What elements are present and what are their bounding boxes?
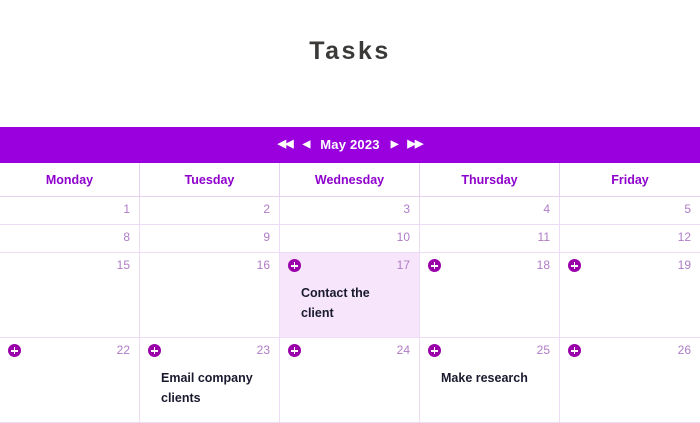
day-cell[interactable]: 12: [560, 225, 700, 252]
next-year-double-arrow-icon[interactable]: ▶▶: [405, 137, 424, 152]
day-cell[interactable]: 18: [420, 253, 560, 337]
day-number: 26: [678, 344, 691, 357]
day-number: 25: [537, 344, 550, 357]
calendar-week-row: 2223Email company clients2425Make resear…: [0, 338, 700, 423]
day-cell[interactable]: 5: [560, 197, 700, 224]
add-button-placeholder: [8, 259, 21, 272]
day-number: 17: [397, 259, 410, 272]
add-task-plus-icon[interactable]: [8, 344, 21, 357]
day-cell[interactable]: 16: [140, 253, 280, 337]
add-button-placeholder: [568, 203, 581, 216]
weekday-header-tuesday: Tuesday: [140, 163, 280, 196]
add-task-plus-icon[interactable]: [568, 344, 581, 357]
day-cell-header: 17: [280, 253, 419, 279]
day-cell[interactable]: 24: [280, 338, 420, 422]
add-task-plus-icon[interactable]: [288, 344, 301, 357]
weekday-header-thursday: Thursday: [420, 163, 560, 196]
day-cell-header: 5: [560, 197, 700, 223]
day-cell[interactable]: 4: [420, 197, 560, 224]
task-item[interactable]: Contact the client: [280, 279, 419, 323]
day-number: 2: [263, 203, 270, 216]
day-cell[interactable]: 2: [140, 197, 280, 224]
calendar-toolbar: ◀◀ ◀ May 2023 ▶ ▶▶: [0, 127, 700, 163]
day-cell-header: 11: [420, 225, 559, 251]
day-cell-header: 10: [280, 225, 419, 251]
day-number: 4: [543, 203, 550, 216]
day-cell[interactable]: 9: [140, 225, 280, 252]
day-cell[interactable]: 17Contact the client: [280, 253, 420, 337]
day-cell[interactable]: 19: [560, 253, 700, 337]
weekday-header-monday: Monday: [0, 163, 140, 196]
weekday-header-friday: Friday: [560, 163, 700, 196]
add-button-placeholder: [428, 203, 441, 216]
day-number: 18: [537, 259, 550, 272]
page-title: Tasks: [0, 17, 700, 66]
current-period-label: May 2023: [317, 137, 382, 152]
add-button-placeholder: [148, 259, 161, 272]
day-number: 22: [117, 344, 130, 357]
day-cell-header: 22: [0, 338, 139, 364]
tasks-calendar-page: Tasks ◀◀ ◀ May 2023 ▶ ▶▶ Monday Tuesday …: [0, 17, 700, 417]
day-number: 3: [403, 203, 410, 216]
day-cell-header: 8: [0, 225, 139, 251]
day-number: 12: [678, 231, 691, 244]
add-button-placeholder: [8, 231, 21, 244]
day-number: 24: [397, 344, 410, 357]
day-cell[interactable]: 10: [280, 225, 420, 252]
day-cell-header: 26: [560, 338, 700, 364]
day-number: 5: [684, 203, 691, 216]
day-number: 1: [123, 203, 130, 216]
prev-year-double-arrow-icon[interactable]: ◀◀: [276, 137, 295, 152]
day-cell-header: 4: [420, 197, 559, 223]
day-cell-header: 12: [560, 225, 700, 251]
weekday-header-row: Monday Tuesday Wednesday Thursday Friday: [0, 163, 700, 197]
day-cell-header: 15: [0, 253, 139, 279]
calendar-week-row: 151617Contact the client1819: [0, 253, 700, 338]
day-cell-header: 24: [280, 338, 419, 364]
day-cell-header: 3: [280, 197, 419, 223]
add-button-placeholder: [288, 231, 301, 244]
day-cell-header: 19: [560, 253, 700, 279]
day-cell[interactable]: 23Email company clients: [140, 338, 280, 422]
add-task-plus-icon[interactable]: [428, 344, 441, 357]
day-number: 11: [538, 231, 550, 244]
day-number: 23: [257, 344, 270, 357]
calendar-widget: ◀◀ ◀ May 2023 ▶ ▶▶ Monday Tuesday Wednes…: [0, 127, 700, 423]
day-cell[interactable]: 25Make research: [420, 338, 560, 422]
calendar-week-row: 89101112: [0, 225, 700, 253]
day-cell[interactable]: 11: [420, 225, 560, 252]
add-task-plus-icon[interactable]: [148, 344, 161, 357]
day-cell-header: 2: [140, 197, 279, 223]
calendar-week-row: 12345: [0, 197, 700, 225]
day-cell-header: 9: [140, 225, 279, 251]
day-cell[interactable]: 26: [560, 338, 700, 422]
task-item[interactable]: Make research: [420, 364, 559, 388]
prev-month-arrow-icon[interactable]: ◀: [301, 137, 312, 152]
day-number: 19: [678, 259, 691, 272]
day-number: 9: [263, 231, 270, 244]
add-button-placeholder: [288, 203, 301, 216]
day-cell[interactable]: 1: [0, 197, 140, 224]
add-button-placeholder: [148, 203, 161, 216]
add-button-placeholder: [568, 231, 581, 244]
day-number: 8: [123, 231, 130, 244]
day-cell-header: 16: [140, 253, 279, 279]
add-task-plus-icon[interactable]: [568, 259, 581, 272]
add-task-plus-icon[interactable]: [428, 259, 441, 272]
day-cell-header: 1: [0, 197, 139, 223]
calendar-grid: 1234589101112151617Contact the client181…: [0, 197, 700, 423]
next-month-arrow-icon[interactable]: ▶: [389, 137, 400, 152]
add-button-placeholder: [148, 231, 161, 244]
day-cell[interactable]: 15: [0, 253, 140, 337]
day-number: 16: [257, 259, 270, 272]
day-number: 15: [117, 259, 130, 272]
calendar-navigation: ◀◀ ◀ May 2023 ▶ ▶▶: [276, 137, 425, 152]
add-button-placeholder: [428, 231, 441, 244]
day-cell-header: 23: [140, 338, 279, 364]
weekday-header-wednesday: Wednesday: [280, 163, 420, 196]
day-cell-header: 25: [420, 338, 559, 364]
day-cell[interactable]: 3: [280, 197, 420, 224]
add-task-plus-icon[interactable]: [288, 259, 301, 272]
day-cell[interactable]: 8: [0, 225, 140, 252]
day-cell[interactable]: 22: [0, 338, 140, 422]
day-cell-header: 18: [420, 253, 559, 279]
add-button-placeholder: [8, 203, 21, 216]
task-item[interactable]: Email company clients: [140, 364, 279, 408]
day-number: 10: [397, 231, 410, 244]
